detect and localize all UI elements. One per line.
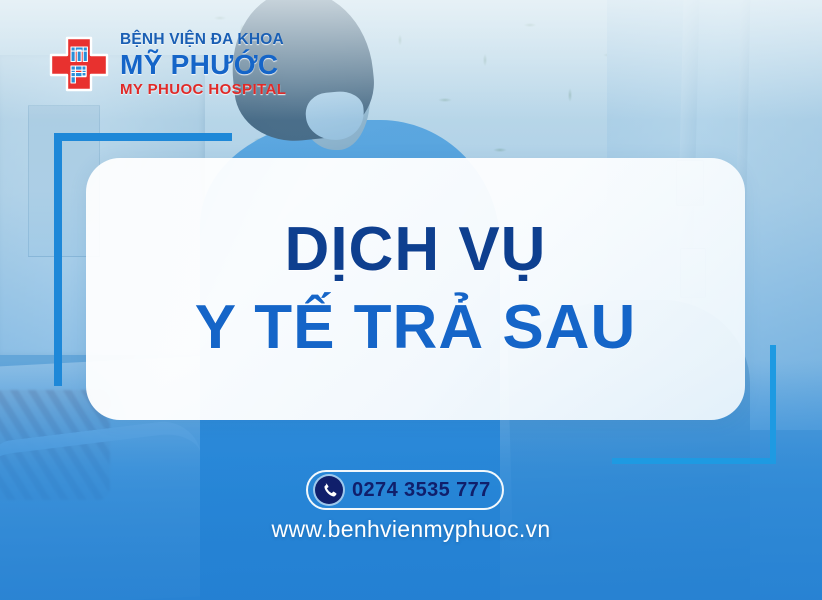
phone-handset-icon [315, 476, 343, 504]
phone-contact-pill[interactable]: 0274 3535 777 [306, 470, 504, 510]
logo-text-block: BỆNH VIỆN ĐA KHOA MỸ PHƯỚC MY PHUOC HOSP… [120, 32, 286, 97]
logo-line-two: MỸ PHƯỚC [120, 50, 286, 79]
title-block: DỊCH VỤ Y TẾ TRẢ SAU [86, 158, 745, 420]
website-url-text[interactable]: www.benhvienmyphuoc.vn [0, 518, 822, 541]
hospital-service-banner: 24 DỊCH VỤ Y TẾ TRẢ SAU [0, 0, 822, 600]
logo-line-three: MY PHUOC HOSPITAL [120, 82, 286, 97]
title-line-two: Y TẾ TRẢ SAU [195, 297, 636, 359]
logo-line-one: BỆNH VIỆN ĐA KHOA [120, 32, 286, 48]
cross-logo-icon [48, 35, 110, 93]
hospital-logo[interactable]: BỆNH VIỆN ĐA KHOA MỸ PHƯỚC MY PHUOC HOSP… [48, 32, 286, 97]
title-card: DỊCH VỤ Y TẾ TRẢ SAU [86, 158, 745, 420]
title-line-one: DỊCH VỤ [285, 219, 547, 281]
phone-number-text: 0274 3535 777 [352, 480, 491, 500]
